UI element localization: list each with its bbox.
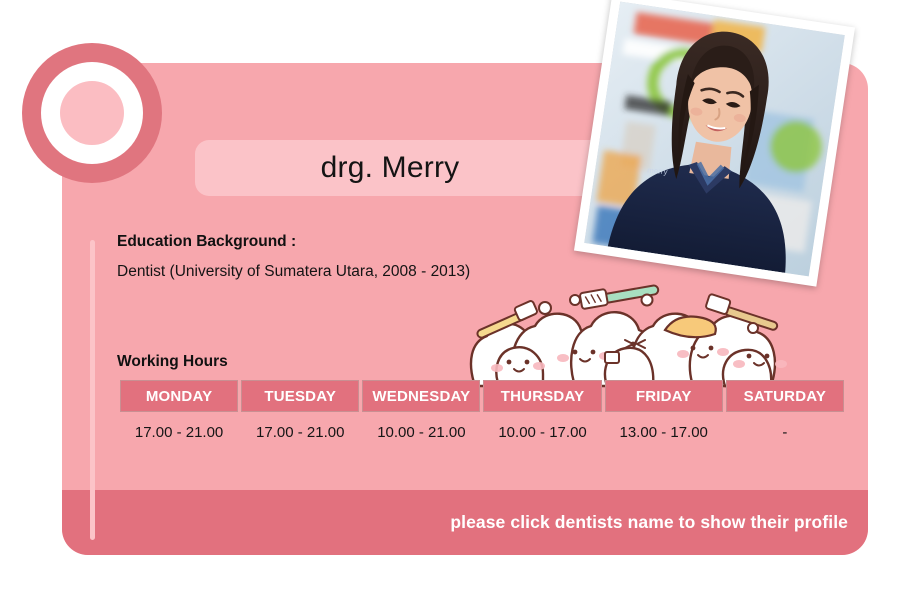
education-title: Education Background :	[117, 233, 470, 251]
click-hint-text: please click dentists name to show their…	[450, 512, 868, 533]
education-section: Education Background : Dentist (Universi…	[117, 233, 470, 281]
card-footer-bar: please click dentists name to show their…	[62, 490, 868, 555]
hours-thursday: 10.00 - 17.00	[483, 412, 601, 452]
schedule-header-row: MONDAY TUESDAY WEDNESDAY THURSDAY FRIDAY…	[120, 380, 844, 412]
working-hours-title: Working Hours	[117, 353, 847, 371]
day-header-wednesday: WEDNESDAY	[362, 380, 480, 412]
day-header-monday: MONDAY	[120, 380, 238, 412]
vertical-accent-line	[90, 240, 95, 540]
doctor-photo-frame[interactable]: merry	[574, 0, 855, 287]
concentric-circle-icon	[22, 43, 162, 183]
hours-monday: 17.00 - 21.00	[120, 412, 238, 452]
svg-text:merry: merry	[647, 166, 668, 177]
working-hours-section: Working Hours MONDAY TUESDAY WEDNESDAY T…	[117, 353, 847, 452]
doctor-name: drg. Merry	[321, 151, 580, 185]
hours-tuesday: 17.00 - 21.00	[241, 412, 359, 452]
day-header-friday: FRIDAY	[605, 380, 723, 412]
day-header-tuesday: TUESDAY	[241, 380, 359, 412]
day-header-saturday: SATURDAY	[726, 380, 844, 412]
schedule-hours-row: 17.00 - 21.00 17.00 - 21.00 10.00 - 21.0…	[120, 412, 844, 452]
hours-friday: 13.00 - 17.00	[605, 412, 723, 452]
circle-inner-dot	[60, 81, 124, 145]
education-detail: Dentist (University of Sumatera Utara, 2…	[117, 263, 470, 281]
hours-wednesday: 10.00 - 21.00	[362, 412, 480, 452]
doctor-photo-image: merry	[584, 2, 845, 277]
schedule-table: MONDAY TUESDAY WEDNESDAY THURSDAY FRIDAY…	[117, 380, 847, 452]
day-header-thursday: THURSDAY	[483, 380, 601, 412]
profile-page: drg. Merry Education Background : Dentis…	[0, 0, 900, 600]
hours-saturday: -	[726, 412, 844, 452]
